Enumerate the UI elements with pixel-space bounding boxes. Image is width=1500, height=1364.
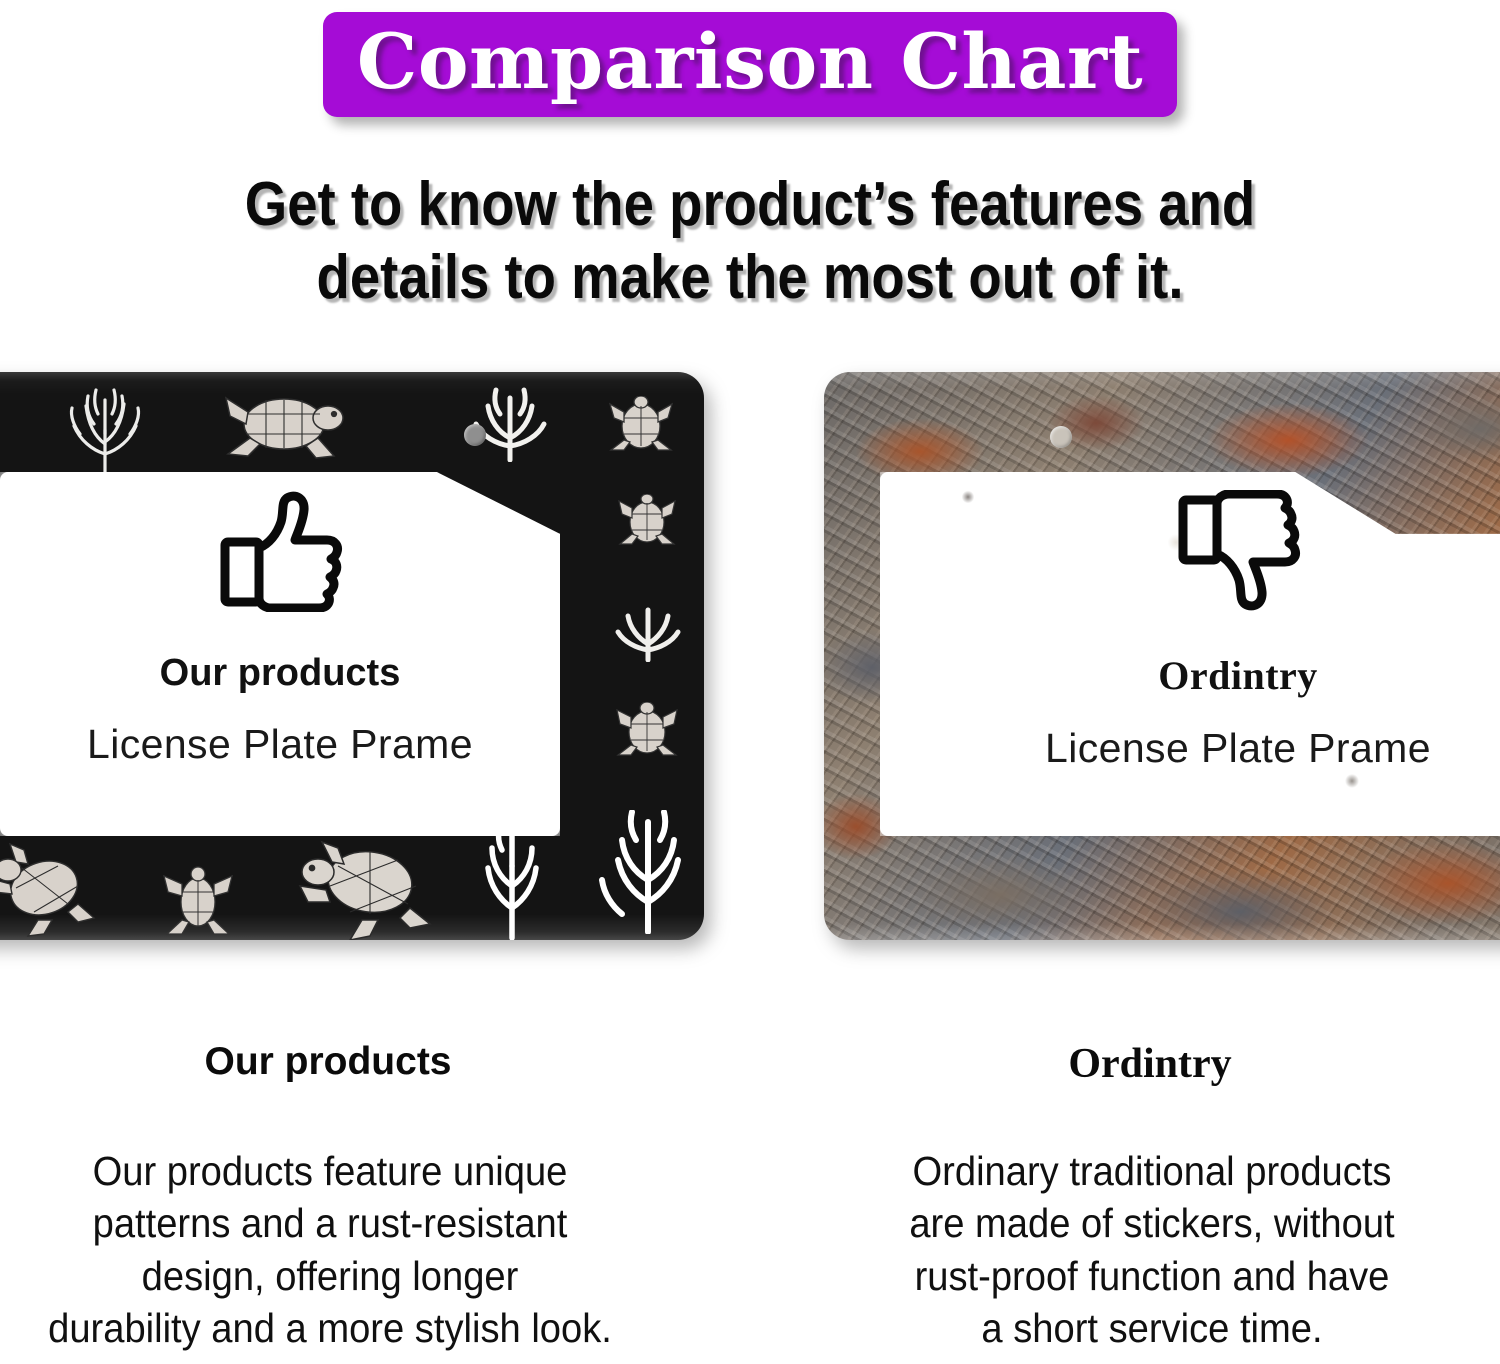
screw-hole xyxy=(464,424,486,446)
description-line-1: Ordinary traditional products xyxy=(854,1145,1449,1197)
sea-turtle-icon xyxy=(292,838,442,940)
description-line-2: patterns and a rust-resistant xyxy=(32,1197,627,1249)
coral-branch-icon xyxy=(50,384,160,474)
coral-branch-icon xyxy=(592,810,696,934)
comparison-chart-page: Comparison Chart Get to know the product… xyxy=(0,0,1500,1364)
our-products-description: Our products feature unique patterns and… xyxy=(32,1145,627,1355)
our-product-card-subtitle: License Plate Prame xyxy=(0,721,560,768)
description-line-4: a short service time. xyxy=(854,1302,1449,1354)
page-title: Comparison Chart xyxy=(357,18,1143,105)
ordintry-heading: Ordintry xyxy=(840,1040,1460,1088)
sea-turtle-icon xyxy=(0,842,108,938)
thumbs-up-icon xyxy=(215,490,345,612)
subtitle-line-1: Get to know the product’s features and xyxy=(134,168,1366,241)
sea-turtle-icon xyxy=(162,854,234,940)
coral-branch-icon xyxy=(468,828,554,940)
sea-turtle-icon xyxy=(616,494,678,550)
description-line-4: durability and a more stylish look. xyxy=(32,1302,627,1354)
our-product-card-title: Our products xyxy=(0,652,560,695)
our-products-heading: Our products xyxy=(18,1040,638,1084)
sea-turtle-icon xyxy=(606,396,676,458)
description-line-3: design, offering longer xyxy=(32,1250,627,1302)
ordinary-product-frame-image: Ordintry License Plate Prame xyxy=(824,372,1500,940)
description-line-3: rust-proof function and have xyxy=(854,1250,1449,1302)
page-subtitle: Get to know the product’s features and d… xyxy=(134,168,1366,314)
subtitle-line-2: details to make the most out of it. xyxy=(134,241,1366,314)
our-product-frame-image: Our products License Plate Prame xyxy=(0,372,704,940)
description-line-1: Our products feature unique xyxy=(32,1145,627,1197)
our-product-card-content: Our products License Plate Prame xyxy=(0,490,560,768)
thumbs-down-icon xyxy=(1173,490,1303,612)
ordinary-product-card-content: Ordintry License Plate Prame xyxy=(880,490,1500,772)
screw-hole xyxy=(1050,426,1072,448)
ordinary-product-card-subtitle: License Plate Prame xyxy=(880,725,1500,772)
title-banner: Comparison Chart xyxy=(323,12,1177,117)
banner-container: Comparison Chart xyxy=(0,12,1500,117)
ordintry-description: Ordinary traditional products are made o… xyxy=(854,1145,1449,1355)
coral-branch-icon xyxy=(610,600,686,662)
sea-turtle-icon xyxy=(222,392,354,466)
ordinary-product-card-title: Ordintry xyxy=(880,652,1500,699)
description-line-2: are made of stickers, without xyxy=(854,1197,1449,1249)
sea-turtle-icon xyxy=(614,702,680,762)
